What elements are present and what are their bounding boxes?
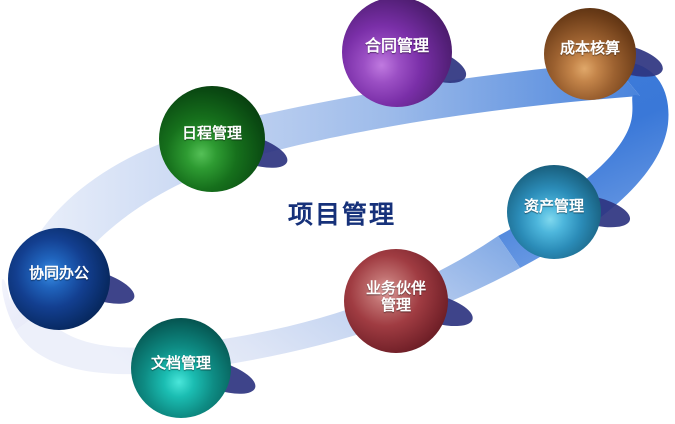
node-schedule-management[interactable]: 日程管理 <box>159 86 265 192</box>
node-sphere <box>544 8 636 100</box>
node-sphere <box>131 318 231 418</box>
project-management-diagram: 合同管理 成本核算 日程管理 资产管理 协同办公 业务伙伴 管理 文档管理 项目… <box>0 0 675 424</box>
node-sphere <box>507 165 601 259</box>
node-sphere <box>159 86 265 192</box>
node-business-partner-management[interactable]: 业务伙伴 管理 <box>344 249 448 353</box>
node-cost-accounting[interactable]: 成本核算 <box>544 8 636 100</box>
node-collaborative-office[interactable]: 协同办公 <box>8 228 110 330</box>
node-sphere <box>8 228 110 330</box>
page-title: 项目管理 <box>288 195 396 231</box>
node-asset-management[interactable]: 资产管理 <box>507 165 601 259</box>
node-document-management[interactable]: 文档管理 <box>131 318 231 418</box>
node-sphere <box>342 0 452 107</box>
node-contract-management[interactable]: 合同管理 <box>342 0 452 107</box>
node-sphere <box>344 249 448 353</box>
